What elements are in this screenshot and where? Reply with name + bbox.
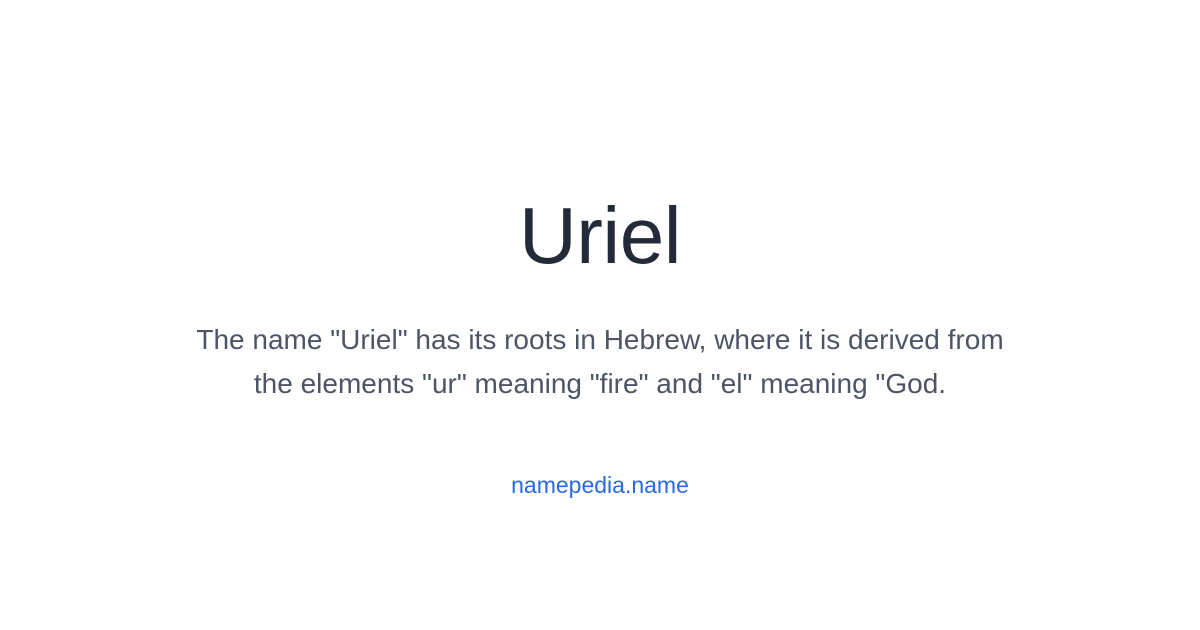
name-description: The name "Uriel" has its roots in Hebrew… — [180, 318, 1020, 406]
name-info-card: Uriel The name "Uriel" has its roots in … — [0, 0, 1200, 630]
site-link[interactable]: namepedia.name — [511, 474, 689, 497]
page-title: Uriel — [519, 196, 681, 276]
